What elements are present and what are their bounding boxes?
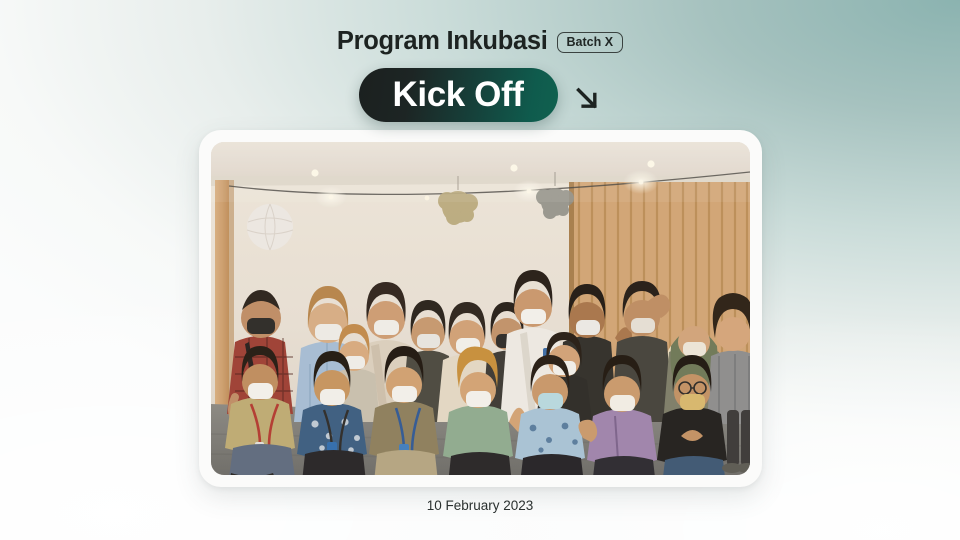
event-photo [211,142,750,475]
kick-off-row: Kick Off [0,68,960,122]
title-row: Program Inkubasi Batch X [0,26,960,58]
batch-badge: Batch X [557,32,624,53]
presentation-slide: Program Inkubasi Batch X Kick Off [0,0,960,540]
photo-caption: 10 February 2023 [0,498,960,513]
kick-off-badge: Kick Off [359,68,558,122]
kick-off-label: Kick Off [393,77,524,112]
slide-header: Program Inkubasi Batch X Kick Off [0,26,960,122]
page-title: Program Inkubasi [337,29,548,55]
arrow-down-right-icon [572,83,602,113]
photo-card [199,130,762,487]
